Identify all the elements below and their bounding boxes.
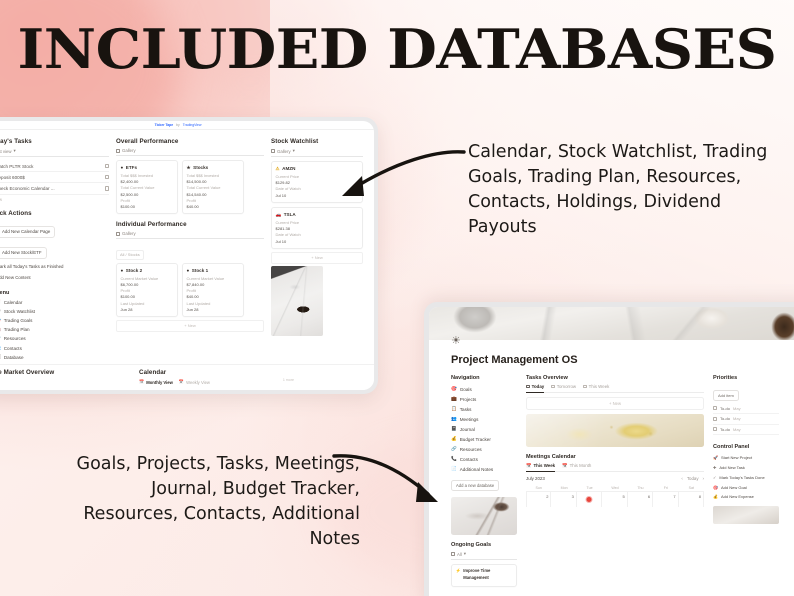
cover-photo — [429, 307, 794, 340]
individual-performance-filter[interactable]: All / Stocks — [116, 250, 144, 260]
calendar-section: Calendar 📅 Monthly View 📅 Weekly View — [139, 369, 289, 385]
todays-tasks-view-selector[interactable]: List view ▾ — [0, 148, 109, 157]
note-icon: 📄 — [451, 466, 457, 472]
mark-tasks-finished-action[interactable]: ✓ Mark all Today's Tasks as Finished — [0, 262, 109, 272]
pasta-photo — [526, 414, 704, 447]
car-icon: 🚗 — [276, 211, 282, 218]
dashboard-bottom-row: Live Market Overview Calendar 📅 Monthly … — [0, 364, 374, 390]
goal-icon: ⚡ — [456, 568, 461, 575]
stock-watchlist-more[interactable]: + New — [271, 252, 363, 264]
nav-label: Additional Notes — [460, 467, 493, 472]
add-task-row[interactable]: + New — [0, 195, 109, 202]
side-panel: Priorities Add item To-doMay To-doMay To… — [713, 375, 779, 587]
priority-row[interactable]: To-doMay — [713, 404, 779, 414]
control-mark-tasks-done[interactable]: ✓Mark Today's Tasks Done — [713, 472, 779, 482]
priority-meta: May — [733, 427, 741, 432]
chevron-down-icon: ▾ — [293, 148, 295, 154]
money-icon: 💰 — [451, 436, 457, 442]
add-stock-etf-button[interactable]: 📈 Add New Stock/ETF — [0, 247, 47, 259]
gallery-card-stocks[interactable]: ★Stocks Total $$$ Invested $14,500.00 To… — [182, 160, 244, 214]
journal-icon: 📓 — [451, 426, 457, 432]
nav-label: Resources — [460, 447, 482, 452]
menu-item-label: Contacts — [4, 346, 22, 351]
menu-item-database[interactable]: 🗄Database — [0, 353, 109, 362]
menu-item-trading-goals[interactable]: 🎯Trading Goals — [0, 316, 109, 325]
annotation-trading-databases: Calendar, Stock Watchlist, Trading Goals… — [468, 140, 788, 239]
control-label: Add New Expense — [721, 494, 754, 499]
priority-row[interactable]: To-doMay — [713, 414, 779, 424]
next-month-button[interactable]: › — [703, 476, 704, 481]
individual-performance-heading: Individual Performance — [116, 221, 264, 228]
menu-item-resources[interactable]: 🔗Resources — [0, 334, 109, 343]
warning-icon: ⚠ — [276, 165, 280, 172]
calendar-cell-today[interactable] — [577, 491, 602, 507]
dow-label: Sun — [526, 484, 551, 491]
nav-item-resources[interactable]: 🔗Resources — [451, 444, 517, 454]
view-label: List view — [0, 149, 11, 154]
priority-row[interactable]: To-doMay — [713, 425, 779, 435]
side-photo — [713, 506, 779, 524]
trading-dashboard-device: Ticker Tape by TradingView Today's Tasks… — [0, 117, 378, 394]
task-label: Deposit 6000$ — [0, 175, 25, 180]
menu-item-stock-watchlist[interactable]: 👁Stock Watchlist — [0, 307, 109, 316]
project-os-device: ☀ Project Management OS Navigation 🎯Goal… — [424, 302, 794, 596]
dow-label: Sat — [679, 484, 704, 491]
annotation-project-databases: Goals, Projects, Tasks, Meetings, Journa… — [60, 452, 360, 551]
card-title: Stock 2 — [126, 267, 142, 274]
sunglasses-photo — [271, 266, 323, 336]
navigation-heading: Navigation — [451, 375, 517, 381]
project-os-body: Navigation 🎯Goals 💼Projects 📋Tasks 👥Meet… — [429, 366, 794, 587]
menu-item-contacts[interactable]: 👥Contacts — [0, 344, 109, 353]
stock-icon: ● — [187, 267, 190, 274]
overall-performance-gallery: ●ETFs Total $$$ Invested $2,400.00 Total… — [116, 160, 264, 214]
control-panel-heading: Control Panel — [713, 444, 779, 450]
individual-performance-gallery: ●Stock 2 Current Market Value $6,700.00 … — [116, 263, 264, 317]
overall-performance-view-selector[interactable]: Gallery — [116, 148, 264, 156]
gallery-card-etfs[interactable]: ●ETFs Total $$$ Invested $2,400.00 Total… — [116, 160, 178, 214]
ticker-source: TradingView — [183, 123, 202, 127]
briefcase-icon: 💼 — [451, 396, 457, 402]
priority-label: To-do — [720, 406, 730, 411]
people-icon: 👥 — [0, 345, 1, 351]
checklist-icon: 📋 — [451, 406, 457, 412]
link-icon: 🔗 — [451, 446, 457, 452]
etf-icon: ● — [121, 164, 124, 171]
tasks-overview-heading: Tasks Overview — [526, 375, 704, 381]
navigation-panel: Navigation 🎯Goals 💼Projects 📋Tasks 👥Meet… — [451, 375, 517, 587]
tab-label: This Month — [570, 463, 592, 468]
calendar-tabs: 📅 Monthly View 📅 Weekly View — [139, 379, 289, 385]
check-icon: ✓ — [713, 475, 716, 480]
tab-this-week[interactable]: This Week — [583, 384, 609, 389]
button-label: Add New Calendar Page — [2, 229, 50, 234]
project-os-title: Project Management OS — [429, 340, 794, 366]
control-add-new-goal[interactable]: 🎯Add New Goal — [713, 482, 779, 492]
chevron-down-icon: ▾ — [13, 148, 15, 154]
view-label: Gallery — [277, 149, 291, 154]
add-new-content-action[interactable]: ⬇ Add New Content — [0, 273, 109, 283]
view-label: Gallery — [122, 148, 136, 153]
tab-label: Weekly View — [186, 380, 210, 385]
calendar-heading: Calendar — [139, 369, 289, 376]
nav-label: Journal — [460, 427, 475, 432]
control-panel-section: Control Panel 🚀Start New Project ✚Add Ne… — [713, 444, 779, 524]
menu-item-label: Calendar — [4, 300, 23, 305]
tab-label: Monthly View — [146, 380, 173, 385]
control-add-new-task[interactable]: ✚Add New Task — [713, 463, 779, 473]
book-icon: 📖 — [0, 327, 1, 333]
task-row[interactable]: ✓Deposit 6000$ — [0, 172, 109, 183]
nav-item-additional-notes[interactable]: 📄Additional Notes — [451, 464, 517, 474]
gallery-card-stock-1[interactable]: ●Stock 1 Current Market Value $7,840.00 … — [182, 263, 244, 317]
dow-label: Wed — [602, 484, 627, 491]
plus-box-icon: ✚ — [713, 465, 716, 470]
nav-label: Goals — [460, 387, 472, 392]
tab-this-week[interactable]: 📅This Week — [526, 463, 555, 473]
nav-item-tasks[interactable]: 📋Tasks — [451, 404, 517, 414]
control-label: Mark Today's Tasks Done — [719, 475, 764, 480]
priority-label: To-do — [720, 416, 730, 421]
menu-item-label: Database — [4, 355, 24, 360]
calendar-month: July 2023 — [526, 476, 545, 481]
calendar-dates-row: 2 3 5 6 7 8 — [526, 491, 704, 507]
link-icon: 🔗 — [0, 336, 1, 342]
control-label: Add New Goal — [721, 485, 747, 490]
stock-watchlist-heading: Stock Watchlist — [271, 138, 363, 145]
priorities-heading: Priorities — [713, 375, 779, 381]
money-icon: 💰 — [713, 494, 718, 499]
todays-tasks-heading: Today's Tasks — [0, 138, 109, 145]
calendar-dow-row: Sun Mon Tue Wed Thu Fri Sat — [526, 484, 704, 491]
nav-item-projects[interactable]: 💼Projects — [451, 394, 517, 404]
calendar-icon: 📅 — [0, 299, 1, 305]
menu-item-label: Stock Watchlist — [4, 309, 35, 314]
nav-item-goals[interactable]: 🎯Goals — [451, 384, 517, 394]
page-title: INCLUDED DATABASES — [0, 22, 794, 76]
stock-icon: ● — [121, 267, 124, 274]
dow-label: Thu — [628, 484, 653, 491]
ticker-by: by — [176, 123, 180, 127]
dow-label: Mon — [551, 484, 576, 491]
live-market-section: Live Market Overview — [0, 369, 109, 385]
control-label: Start New Project — [721, 455, 752, 460]
menu-label: Menu — [0, 290, 9, 296]
nav-label: Budget Tracker — [460, 437, 491, 442]
calendar-header: July 2023 ‹ Today › — [526, 476, 704, 481]
dashboard-body: Today's Tasks List view ▾ ✓Watch PLTR St… — [0, 130, 374, 390]
tab-label: Tomorrow — [557, 384, 576, 389]
priority-checkbox[interactable] — [713, 417, 717, 421]
menu-heading[interactable]: ▾ Menu — [0, 290, 109, 296]
gallery-card-stock-2[interactable]: ●Stock 2 Current Market Value $6,700.00 … — [116, 263, 178, 317]
tab-weekly-view[interactable]: 📅 Weekly View — [179, 379, 210, 385]
target-icon: 🎯 — [451, 386, 457, 392]
control-start-new-project[interactable]: 🚀Start New Project — [713, 453, 779, 463]
dow-label: Tue — [577, 484, 602, 491]
calendar-icon: 📅 — [139, 379, 144, 385]
view-label: All — [457, 552, 462, 557]
menu-item-label: Resources — [4, 336, 26, 341]
meetings-calendar-tabs: 📅This Week 📅This Month — [526, 463, 704, 473]
tasks-overview-tabs: Today Tomorrow This Week — [526, 384, 704, 393]
view-label: Gallery — [122, 231, 136, 236]
main-panel: Tasks Overview Today Tomorrow This Week … — [526, 375, 704, 587]
today-marker — [586, 496, 593, 503]
priority-meta: May — [733, 406, 741, 411]
task-row[interactable]: ✓Watch PLTR Stock — [0, 161, 109, 172]
people-icon: 👥 — [451, 416, 457, 422]
tab-label: This Week — [533, 463, 555, 468]
gallery-view-icon — [116, 232, 120, 236]
gallery-view-icon — [116, 149, 120, 153]
field-value: $40.00 — [187, 204, 240, 210]
tab-label: This Week — [589, 384, 610, 389]
dashboard-column-middle: Overall Performance Gallery ●ETFs Total … — [116, 138, 264, 390]
field-value: Jun 28 — [187, 307, 240, 313]
calendar-cell[interactable]: 5 — [602, 491, 627, 507]
chevron-down-icon: ▾ — [464, 551, 466, 557]
arrow-to-project-os — [330, 452, 440, 510]
field-value: Jun 28 — [121, 307, 174, 313]
tab-today[interactable]: Today — [526, 384, 544, 393]
quick-actions-heading: Quick Actions — [0, 210, 109, 217]
live-market-heading: Live Market Overview — [0, 369, 109, 376]
card-title: Stocks — [193, 164, 208, 171]
new-task-button[interactable]: + New — [526, 397, 704, 410]
table-view-icon — [551, 385, 555, 389]
priority-checkbox[interactable] — [713, 427, 717, 431]
tab-tomorrow[interactable]: Tomorrow — [551, 384, 576, 389]
calendar-cell[interactable]: 3 — [551, 491, 576, 507]
nav-item-meetings[interactable]: 👥Meetings — [451, 414, 517, 424]
project-os-screen: ☀ Project Management OS Navigation 🎯Goal… — [429, 307, 794, 596]
ongoing-goal-card[interactable]: ⚡ Improve Time Management — [451, 564, 517, 587]
ticker-tape: Ticker Tape by TradingView — [0, 121, 374, 130]
menu-item-trading-plan[interactable]: 📖Trading Plan — [0, 325, 109, 334]
calendar-icon: 📅 — [526, 463, 531, 469]
add-database-button[interactable]: Add a new database — [451, 480, 499, 491]
phone-icon: 📞 — [451, 456, 457, 462]
target-icon: 🎯 — [0, 318, 1, 324]
task-checkbox[interactable] — [105, 175, 109, 179]
calendar-icon: 📅 — [562, 463, 567, 469]
priority-label: To-do — [720, 427, 730, 432]
meetings-calendar-heading: Meetings Calendar — [526, 454, 704, 460]
add-priority-button[interactable]: Add item — [713, 390, 739, 401]
task-checkbox[interactable] — [105, 164, 109, 168]
card-title: ETFs — [126, 164, 137, 171]
task-label: Check Economic Calendar ... — [0, 186, 55, 191]
table-view-icon — [526, 385, 530, 389]
ongoing-goals-heading: Ongoing Goals — [451, 542, 517, 548]
quick-actions-list: 📅 Add New Calendar Page 📈 Add New Stock/… — [0, 220, 109, 283]
arrow-to-trading-dashboard — [336, 148, 466, 208]
nav-item-journal[interactable]: 📓Journal — [451, 424, 517, 434]
task-checkbox[interactable] — [105, 186, 109, 190]
menu-item-label: Trading Plan — [4, 327, 30, 332]
eye-icon: 👁 — [0, 308, 1, 314]
prev-month-button[interactable]: ‹ — [681, 476, 682, 481]
individual-performance-view-selector[interactable]: Gallery — [116, 231, 264, 239]
calendar-nav: ‹ Today › — [681, 476, 704, 481]
database-icon: 🗄 — [0, 354, 1, 360]
individual-performance-more[interactable]: + New — [116, 320, 264, 332]
card-title: Improve Time Management — [463, 568, 512, 581]
control-add-new-expense[interactable]: 💰Add New Expense — [713, 492, 779, 502]
table-view-icon — [583, 385, 587, 389]
menu-item-calendar[interactable]: 📅Calendar — [0, 298, 109, 307]
gallery-view-icon — [451, 552, 455, 556]
control-label: Add New Task — [719, 465, 745, 470]
trading-dashboard-screen: Ticker Tape by TradingView Today's Tasks… — [0, 121, 374, 390]
task-row[interactable]: ✓Check Economic Calendar ... — [0, 183, 109, 194]
calendar-cell[interactable]: 7 — [653, 491, 678, 507]
nav-label: Contacts — [460, 457, 478, 462]
task-label: Watch PLTR Stock — [0, 164, 33, 169]
card-title: Stock 1 — [192, 267, 208, 274]
menu-item-label: Trading Goals — [4, 318, 33, 323]
nav-label: Meetings — [460, 417, 479, 422]
nav-label: Tasks — [460, 407, 472, 412]
calendar-cell[interactable]: 6 — [628, 491, 653, 507]
ongoing-goals-view-selector[interactable]: All ▾ — [451, 551, 517, 560]
action-label: Add New Content — [0, 275, 31, 280]
watchlist-card-tsla[interactable]: 🚗TSLA Current Price $281.38 Date of Watc… — [271, 207, 363, 249]
add-calendar-page-button[interactable]: 📅 Add New Calendar Page — [0, 226, 55, 238]
star-icon: ★ — [187, 164, 191, 171]
field-value: $100.00 — [121, 204, 174, 210]
calendar-cell[interactable]: 8 — [679, 491, 704, 507]
priorities-section: Priorities Add item To-doMay To-doMay To… — [713, 375, 779, 435]
target-icon: 🎯 — [713, 485, 718, 490]
card-title: AMZN — [282, 165, 295, 172]
dashboard-column-left: Today's Tasks List view ▾ ✓Watch PLTR St… — [0, 138, 109, 390]
live-market-note: 1 more — [283, 378, 294, 382]
nav-label: Projects — [460, 397, 477, 402]
gallery-view-icon — [271, 149, 275, 153]
priority-checkbox[interactable] — [713, 406, 717, 410]
dow-label: Fri — [653, 484, 678, 491]
nav-item-budget-tracker[interactable]: 💰Budget Tracker — [451, 434, 517, 444]
action-label: Mark all Today's Tasks as Finished — [0, 264, 63, 269]
calendar-icon: 📅 — [179, 379, 184, 385]
field-value: Jul 10 — [276, 239, 359, 245]
tab-label: Today — [532, 384, 545, 389]
button-label: Add New Stock/ETF — [2, 250, 42, 255]
nav-item-contacts[interactable]: 📞Contacts — [451, 454, 517, 464]
ticker-symbol: Ticker Tape — [155, 123, 174, 127]
tab-this-month[interactable]: 📅This Month — [562, 463, 591, 469]
card-title: TSLA — [284, 211, 296, 218]
rocket-icon: 🚀 — [713, 455, 718, 460]
lavender-photo — [451, 497, 517, 535]
overall-performance-heading: Overall Performance — [116, 138, 264, 145]
today-button[interactable]: Today — [687, 476, 699, 481]
priority-meta: May — [733, 416, 741, 421]
sun-icon: ☀ — [451, 335, 463, 347]
calendar-cell[interactable]: 2 — [526, 491, 551, 507]
tab-monthly-view[interactable]: 📅 Monthly View — [139, 379, 173, 385]
